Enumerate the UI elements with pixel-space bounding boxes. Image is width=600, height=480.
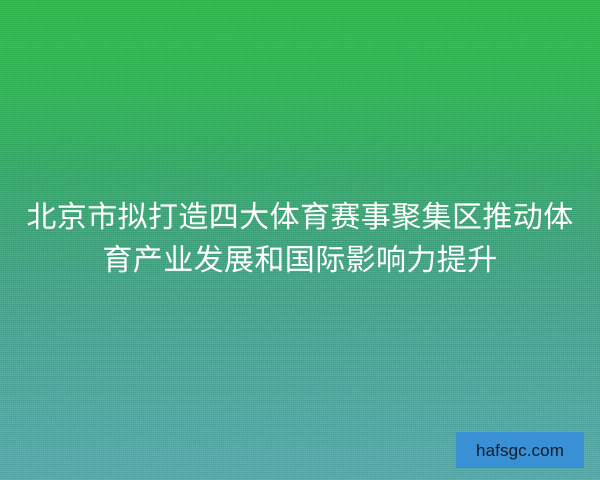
page-title: 北京市拟打造四大体育赛事聚集区推动体育产业发展和国际影响力提升 (0, 196, 600, 282)
watermark-badge: hafsgc.com (456, 432, 584, 468)
watermark-label: hafsgc.com (476, 442, 564, 459)
cover-image-canvas: 北京市拟打造四大体育赛事聚集区推动体育产业发展和国际影响力提升 hafsgc.c… (0, 0, 600, 480)
